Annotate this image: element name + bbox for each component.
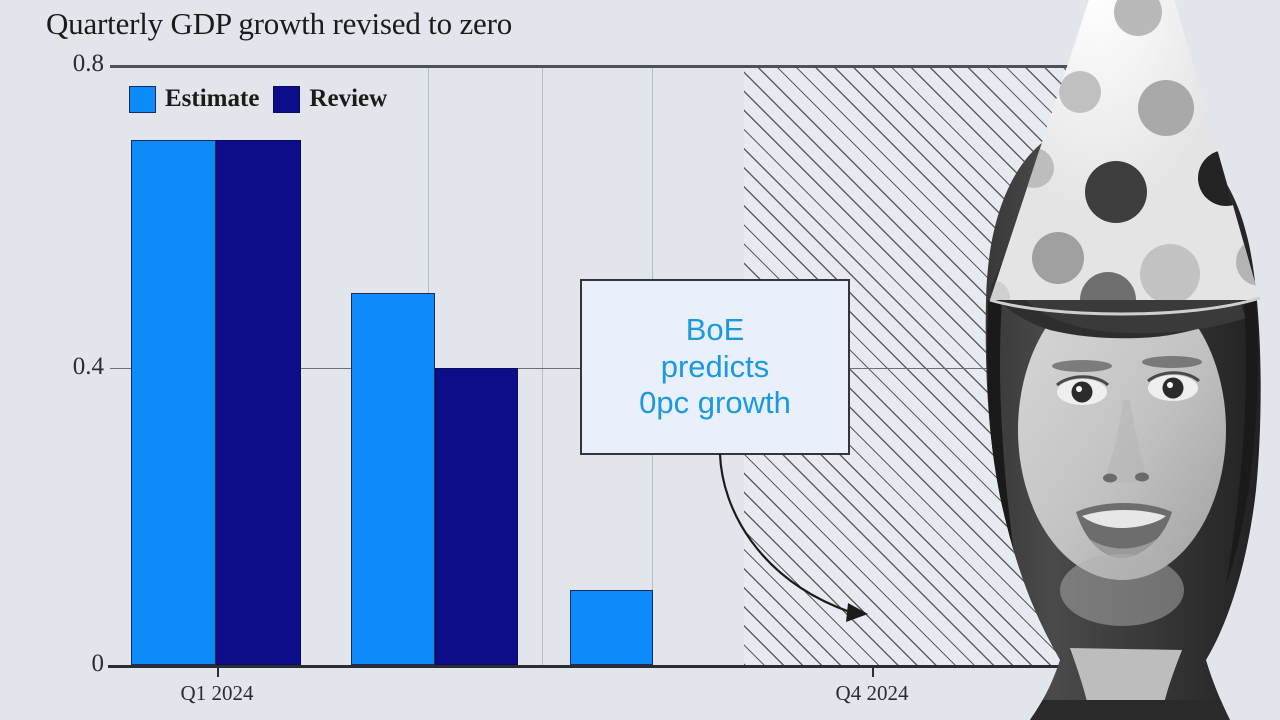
bar-estimate-q2[interactable] xyxy=(351,293,435,665)
x-tick-label-q4: Q4 2024 xyxy=(836,681,909,706)
bar-review-q1[interactable] xyxy=(216,140,301,665)
boe-callout-box: BoE predicts 0pc growth xyxy=(580,279,850,455)
x-axis-baseline xyxy=(108,665,1070,668)
legend-label-estimate: Estimate xyxy=(165,85,259,113)
chart-canvas: Quarterly GDP growth revised to zero 0.8… xyxy=(0,0,1280,720)
legend-swatch-icon-review xyxy=(273,86,300,113)
gridline-vertical xyxy=(542,65,543,665)
legend-item-review[interactable]: Review xyxy=(273,85,387,113)
bar-review-q2[interactable] xyxy=(435,368,518,665)
legend-item-estimate[interactable]: Estimate xyxy=(129,85,259,113)
bar-estimate-q3[interactable] xyxy=(570,590,653,665)
page-title: Quarterly GDP growth revised to zero xyxy=(46,6,512,42)
legend-label-review: Review xyxy=(309,85,387,113)
x-tick-label-q1: Q1 2024 xyxy=(181,681,254,706)
legend-swatch-icon-estimate xyxy=(129,86,156,113)
portrait-photo xyxy=(930,0,1280,720)
bar-estimate-q1[interactable] xyxy=(131,140,216,665)
y-tick-label-0: 0 xyxy=(34,650,104,678)
y-tick-label-0-8: 0.8 xyxy=(34,50,104,78)
chart-legend: Estimate Review xyxy=(129,85,387,113)
gridline-0-8 xyxy=(110,65,1070,68)
x-tick-q1 xyxy=(217,665,219,677)
y-tick-label-0-4: 0.4 xyxy=(34,353,104,381)
boe-callout-text: BoE predicts 0pc growth xyxy=(639,312,791,422)
x-tick-q4 xyxy=(872,665,874,677)
